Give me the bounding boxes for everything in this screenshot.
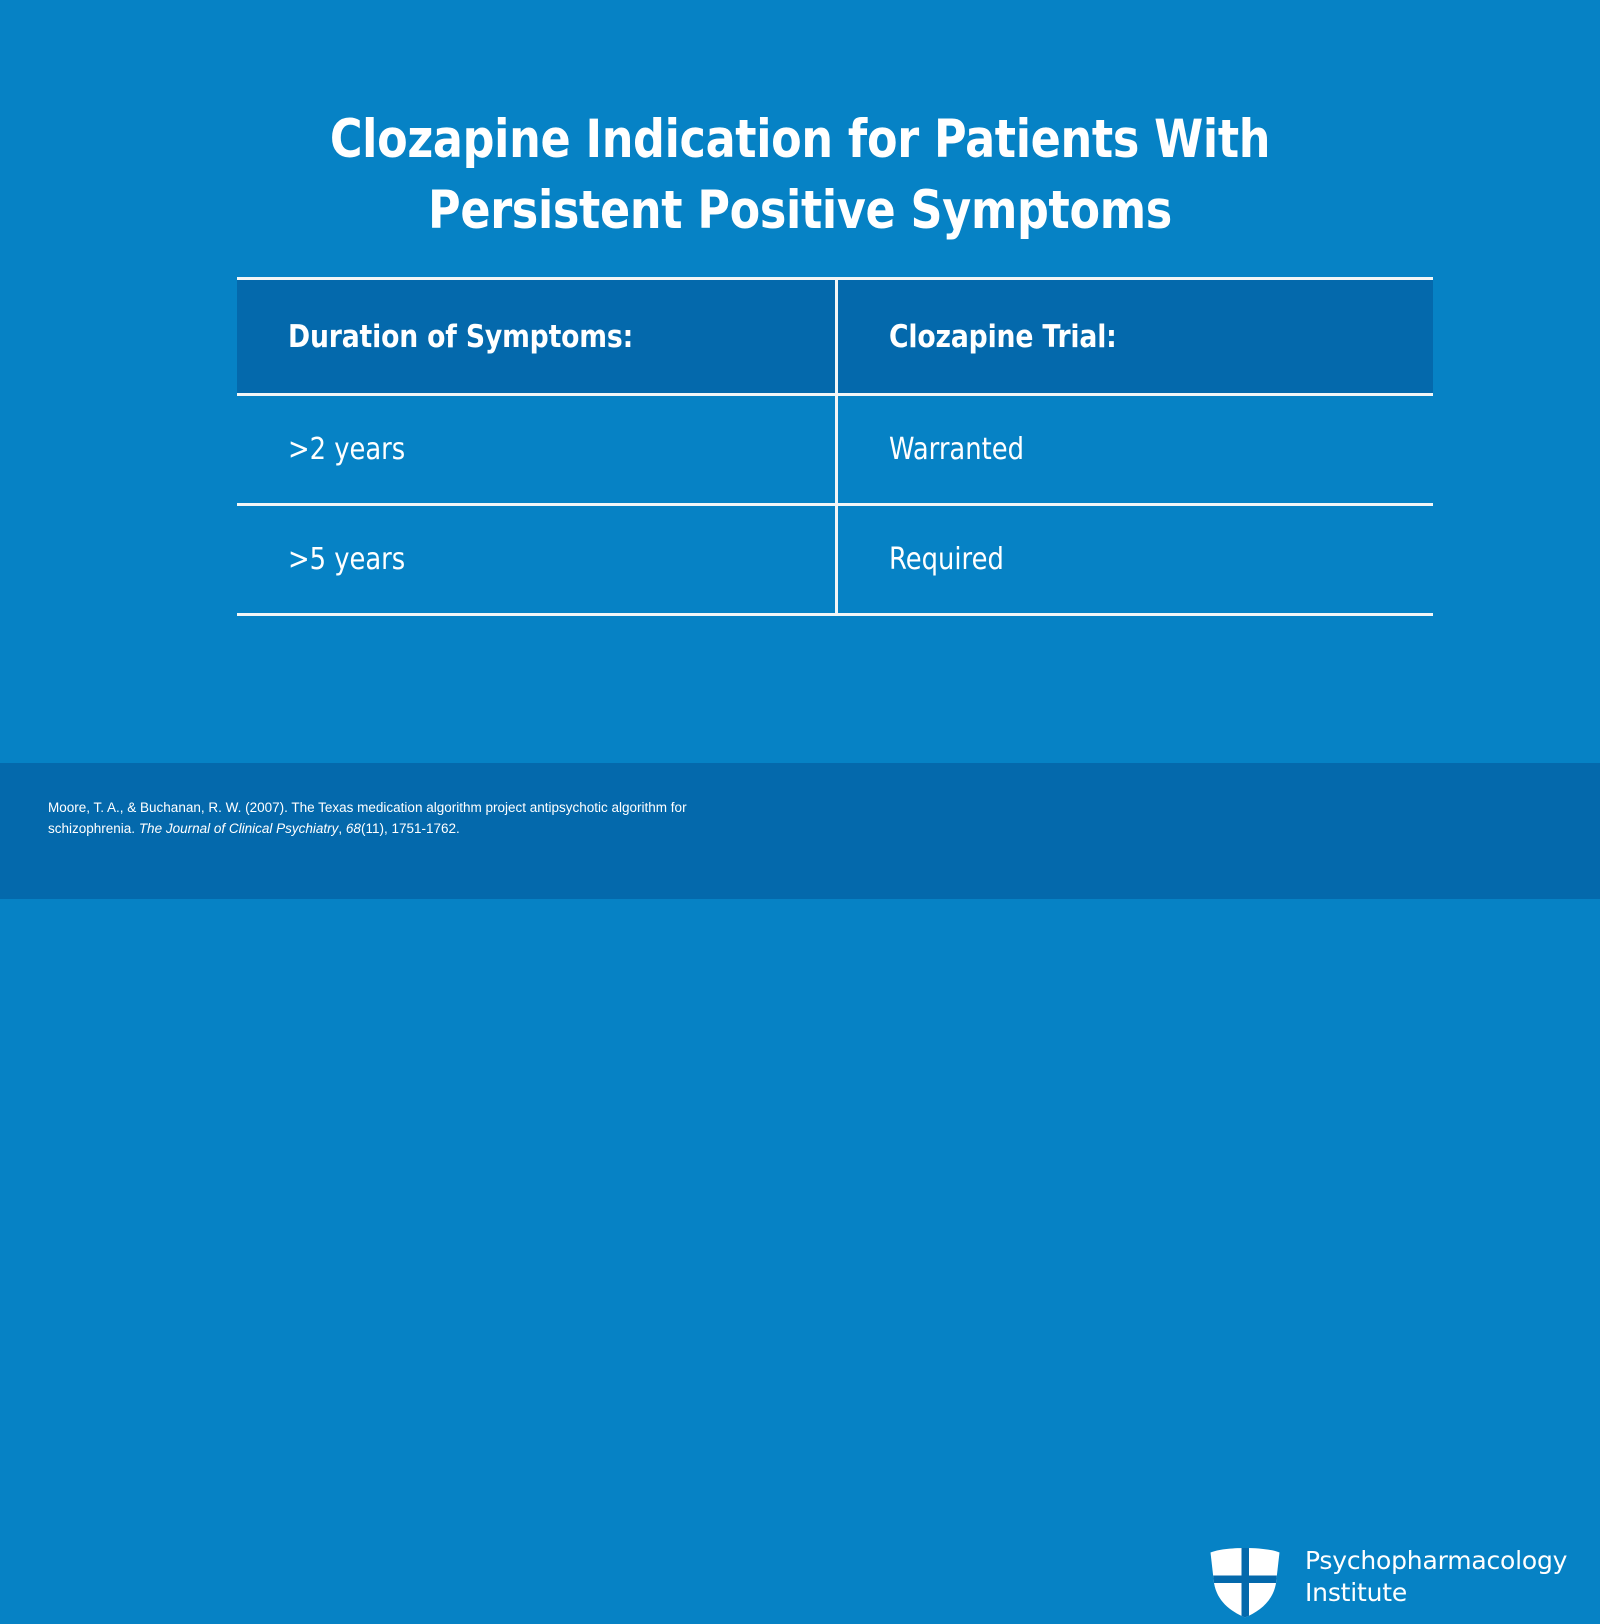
- column-header-trial-label: Clozapine Trial:: [889, 319, 1117, 355]
- slide: Clozapine Indication for Patients With P…: [0, 0, 1600, 899]
- table-row: >2 years Warranted: [237, 395, 1433, 505]
- column-header-duration-label: Duration of Symptoms:: [288, 319, 633, 355]
- citation-journal: The Journal of Clinical Psychiatry: [139, 821, 339, 836]
- cell-duration-value: >2 years: [288, 432, 405, 467]
- citation-part2: ,: [338, 821, 346, 836]
- citation-volume: 68: [346, 821, 361, 836]
- brand-name-line1: Psychopharmacology: [1305, 1546, 1567, 1575]
- citation: Moore, T. A., & Buchanan, R. W. (2007). …: [48, 797, 698, 839]
- clozapine-indication-table: Duration of Symptoms: Clozapine Trial: >…: [237, 277, 1331, 616]
- table: Duration of Symptoms: Clozapine Trial: >…: [237, 277, 1433, 616]
- table-header-row: Duration of Symptoms: Clozapine Trial:: [237, 279, 1433, 395]
- cell-trial-value: Required: [889, 542, 1004, 577]
- page-title: Clozapine Indication for Patients With P…: [321, 104, 1279, 246]
- cell-trial-value: Warranted: [889, 432, 1024, 467]
- table-row: >5 years Required: [237, 505, 1433, 615]
- shield-icon: [1205, 1539, 1285, 1619]
- citation-part3: (11), 1751-1762.: [361, 821, 460, 836]
- brand-logo: Psychopharmacology Institute: [1205, 1539, 1545, 1619]
- column-header-duration: Duration of Symptoms:: [237, 279, 837, 395]
- cell-trial: Warranted: [837, 395, 1434, 505]
- cell-duration: >5 years: [237, 505, 837, 615]
- cell-trial: Required: [837, 505, 1434, 615]
- column-header-trial: Clozapine Trial:: [837, 279, 1434, 395]
- cell-duration: >2 years: [237, 395, 837, 505]
- brand-name: Psychopharmacology Institute: [1305, 1545, 1567, 1609]
- footer-band: Moore, T. A., & Buchanan, R. W. (2007). …: [0, 763, 1600, 899]
- brand-name-line2: Institute: [1305, 1577, 1567, 1609]
- cell-duration-value: >5 years: [288, 542, 405, 577]
